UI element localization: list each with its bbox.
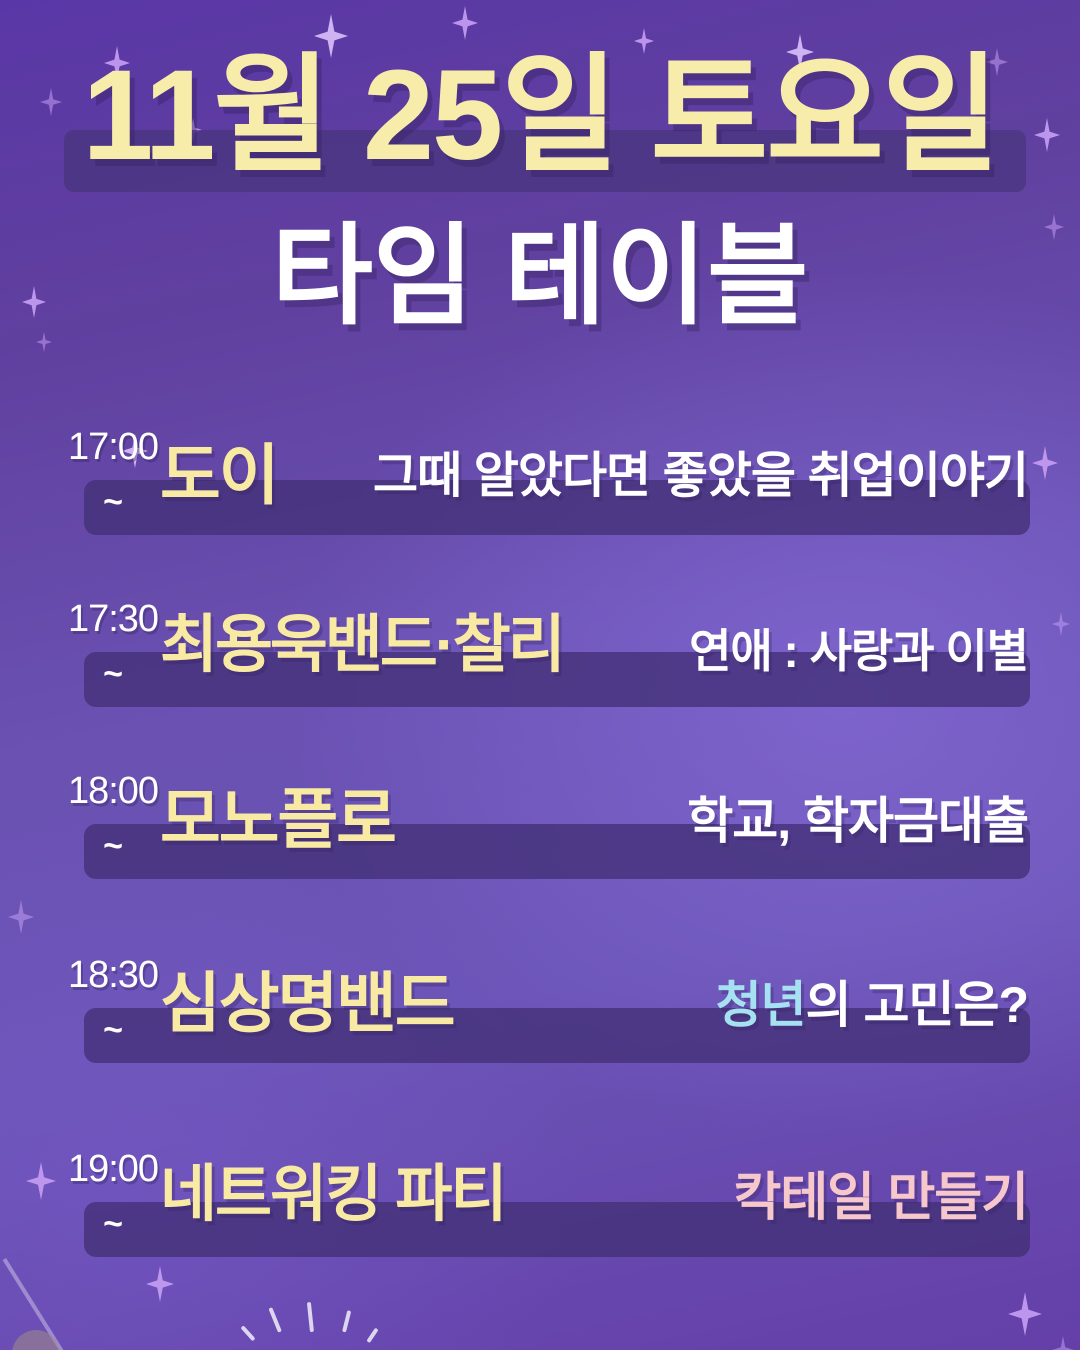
schedule-row: 18:00 ~ 모노플로 학교, 학자금대출 [0, 772, 1080, 892]
schedule-row: 19:00 ~ 네트워킹 파티 칵테일 만들기 [0, 1150, 1080, 1270]
topic-rest: 칵테일 만들기 [734, 1169, 1029, 1227]
session-topic: 그때 알았다면 좋았을 취업이야기 [373, 452, 1028, 501]
topic-rest: 의 고민은? [806, 977, 1028, 1033]
session-topic: 청년의 고민은? [716, 980, 1028, 1030]
schedule-row: 17:30 ~ 최용욱밴드·찰리 연애 : 사랑과 이별 [0, 600, 1080, 720]
session-topic: 학교, 학자금대출 [687, 796, 1028, 846]
schedule-row: 17:00 ~ 도이 그때 알았다면 좋았을 취업이야기 [0, 428, 1080, 548]
schedule-list: 17:00 ~ 도이 그때 알았다면 좋았을 취업이야기 17:30 ~ 최용욱… [0, 0, 1080, 1350]
session-topic: 칵테일 만들기 [734, 1172, 1029, 1224]
performer-name: 네트워킹 파티 [160, 1164, 505, 1226]
topic-rest: 연애 : 사랑과 이별 [689, 625, 1028, 677]
performer-name: 심상명밴드 [160, 970, 454, 1036]
topic-highlight: 청년 [716, 977, 806, 1033]
performer-name: 도이 [160, 442, 277, 508]
topic-rest: 학교, 학자금대출 [687, 793, 1028, 849]
timetable-poster: 11월 25일 토요일 타임 테이블 17:00 ~ 도이 그때 알았다면 좋았… [0, 0, 1080, 1350]
schedule-row: 18:30 ~ 심상명밴드 청년의 고민은? [0, 956, 1080, 1076]
session-topic: 연애 : 사랑과 이별 [689, 628, 1028, 674]
performer-name: 최용욱밴드·찰리 [160, 614, 563, 677]
performer-name: 모노플로 [160, 786, 395, 852]
topic-rest: 그때 알았다면 좋았을 취업이야기 [373, 449, 1028, 503]
